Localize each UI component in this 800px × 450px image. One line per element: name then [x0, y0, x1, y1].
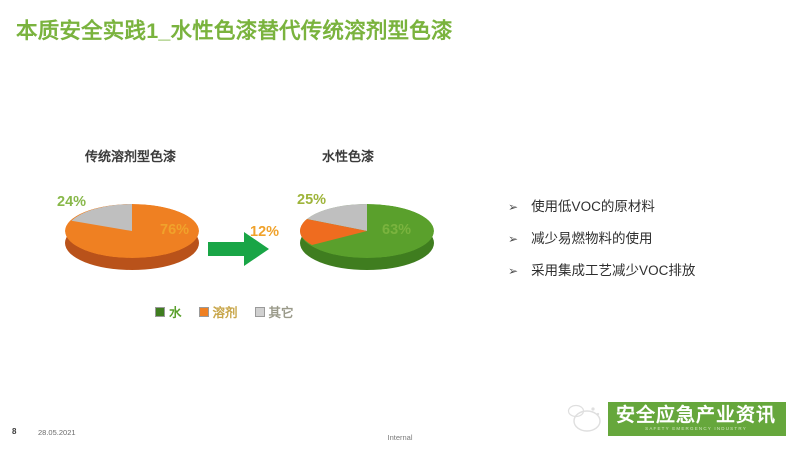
watermark-title: 安全应急产业资讯 — [616, 406, 776, 426]
arrow-bullet-icon: ➢ — [508, 262, 518, 280]
watermark: 安全应急产业资讯 SAFETY EMERGENCY INDUSTRY — [566, 398, 790, 440]
list-item: ➢ 使用低VOC的原材料 — [508, 198, 778, 216]
right-solvent-percent-label: 12% — [250, 224, 279, 240]
legend-label-solvent: 溶剂 — [213, 302, 238, 321]
legend-item-solvent: 溶剂 — [199, 302, 238, 321]
bullet-text: 采用集成工艺减少VOC排放 — [531, 262, 695, 280]
legend-label-other: 其它 — [269, 302, 294, 321]
chart-legend: 水 溶剂 其它 — [155, 302, 294, 321]
arrow-bullet-icon: ➢ — [508, 198, 518, 216]
legend-label-water: 水 — [169, 302, 182, 321]
legend-swatch-other — [255, 307, 265, 317]
page-title: 本质安全实践1_水性色漆替代传统溶剂型色漆 — [16, 14, 453, 45]
legend-swatch-solvent — [199, 307, 209, 317]
list-item: ➢ 采用集成工艺减少VOC排放 — [508, 262, 778, 280]
right-pie-caption: 水性色漆 — [322, 146, 374, 165]
legend-swatch-water — [155, 307, 165, 317]
left-pie-caption: 传统溶剂型色漆 — [85, 146, 176, 165]
legend-item-water: 水 — [155, 302, 182, 321]
right-water-percent-label: 63% — [382, 222, 411, 238]
speech-bubble-icon — [566, 402, 606, 436]
left-pie-chart — [65, 204, 199, 274]
bullet-text: 使用低VOC的原材料 — [531, 198, 655, 216]
right-pie-top — [300, 204, 434, 258]
left-other-percent-label: 24% — [57, 194, 86, 210]
right-pie-chart — [300, 204, 434, 274]
watermark-band: 安全应急产业资讯 SAFETY EMERGENCY INDUSTRY — [608, 402, 786, 436]
bullet-text: 减少易燃物料的使用 — [531, 230, 653, 248]
left-solvent-percent-label: 76% — [160, 222, 189, 238]
watermark-subtitle: SAFETY EMERGENCY INDUSTRY — [616, 426, 776, 432]
list-item: ➢ 减少易燃物料的使用 — [508, 230, 778, 248]
bullet-list: ➢ 使用低VOC的原材料 ➢ 减少易燃物料的使用 ➢ 采用集成工艺减少VOC排放 — [508, 198, 778, 294]
arrow-bullet-icon: ➢ — [508, 230, 518, 248]
charts-area: 传统溶剂型色漆 水性色漆 24% 76% — [0, 120, 470, 340]
right-other-percent-label: 25% — [297, 192, 326, 208]
legend-item-other: 其它 — [255, 302, 294, 321]
